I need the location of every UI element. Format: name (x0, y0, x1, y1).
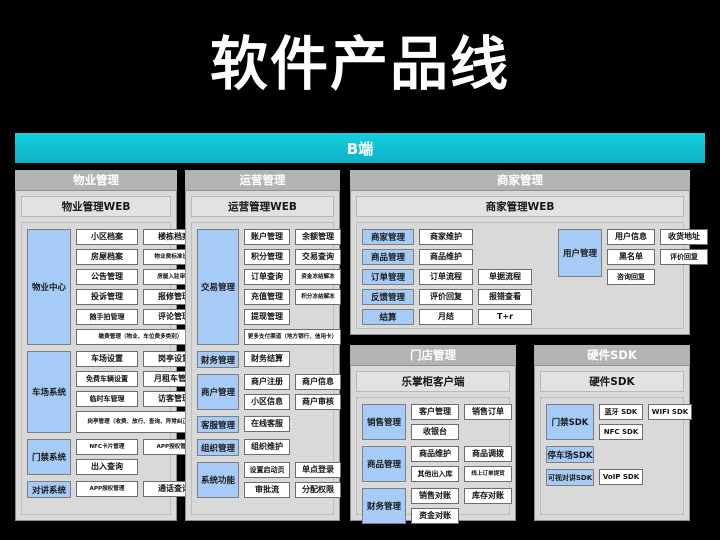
category-merchant-account[interactable]: 商户管理 (197, 374, 239, 410)
column-sdk: 硬件SDK 硬件SDK 门禁SDK 蓝牙 SDKWIFI SDK NFC SDK… (534, 345, 690, 521)
item-button[interactable]: 商户注册 (244, 374, 290, 390)
group-access-sdk: 门禁SDK 蓝牙 SDKWIFI SDK NFC SDK (546, 404, 678, 440)
category-parking-system[interactable]: 车场系统 (27, 351, 71, 433)
group-parking-system: 车场系统 车场设置岗亭设置 免费车辆设置月租车管理 临时车管理访客管理 岗亭管理… (27, 351, 165, 433)
item-button[interactable]: 临时车管理 (76, 391, 138, 407)
item-button[interactable]: 随手拍管理 (76, 309, 138, 325)
group-property-center: 物业中心 小区档案楼栋档案 房屋档案物业费标准设置 公告管理房屋入驻审核 投诉管… (27, 229, 165, 345)
group-store-finance: 财务管理 销售对账库存对账 资金对账 (362, 488, 504, 524)
panel-body-store: 销售管理 客户管理销售订单 收银台 商品管理 商品维护商品调拨 其他出入库线上订… (356, 397, 510, 515)
panel-operations: 运营管理WEB 交易管理 账户管理余额管理 积分管理交易查询 订单查询资金冻结解… (185, 190, 340, 521)
column-header-sdk: 硬件SDK (534, 345, 690, 365)
item-button[interactable]: 免费车辆设置 (76, 371, 138, 387)
item-button[interactable]: 订单查询 (244, 269, 290, 285)
category-intercom-system[interactable]: 对讲系统 (27, 481, 71, 498)
item-button[interactable]: 公告管理 (76, 269, 138, 285)
column-header-property: 物业管理 (15, 170, 177, 190)
category-settlement[interactable]: 结算 (362, 309, 414, 325)
item-button[interactable]: 财务结算 (244, 351, 290, 367)
category-sales[interactable]: 销售管理 (362, 404, 406, 440)
item-button[interactable]: 积分管理 (244, 249, 290, 265)
item-button[interactable]: 用户信息 (607, 229, 655, 245)
item-button[interactable]: 商家维护 (419, 229, 473, 245)
item-button[interactable]: 分配权限 (295, 482, 341, 498)
category-access-system[interactable]: 门禁系统 (27, 439, 71, 475)
item-button[interactable]: 黑名单 (607, 249, 655, 265)
item-button[interactable]: 组织维护 (244, 439, 290, 455)
item-button[interactable]: 投诉管理 (76, 289, 138, 305)
page-title: 软件产品线 (0, 28, 720, 100)
panel-store: 乐掌柜客户端 销售管理 客户管理销售订单 收银台 商品管理 商品维护商品调拨 其… (350, 365, 516, 521)
item-button[interactable]: 销售对账 (411, 488, 459, 504)
category-user-mgmt[interactable]: 用户管理 (558, 229, 602, 277)
item-button[interactable]: 审批流 (244, 482, 290, 498)
category-order-mgmt[interactable]: 订单管理 (362, 269, 414, 285)
item-button[interactable]: WIFI SDK (648, 404, 692, 420)
category-store-product[interactable]: 商品管理 (362, 446, 406, 482)
category-organization[interactable]: 组织管理 (197, 439, 239, 456)
column-property: 物业管理 物业管理WEB 物业中心 小区档案楼栋档案 房屋档案物业费标准设置 公… (15, 170, 177, 521)
item-button[interactable]: 销售订单 (464, 404, 512, 420)
group-customer-service: 客服管理 在线客服 (197, 416, 328, 433)
item-button[interactable]: 单据流程 (478, 269, 532, 285)
item-button[interactable]: 商品调拨 (464, 446, 512, 462)
group-intercom-sdk: 可视对讲SDK VoIP SDK (546, 469, 678, 486)
slide-root: 软件产品线 B端 物业管理 物业管理WEB 物业中心 小区档案楼栋档案 房屋档案… (0, 0, 720, 540)
banner-b-end: B端 (15, 133, 705, 163)
item-button[interactable]: 出入查询 (76, 459, 138, 475)
item-button[interactable]: 单点登录 (295, 462, 341, 478)
group-user-mgmt: 用户管理 用户信息收货地址 黑名单评价回复 咨询回复 (558, 229, 708, 322)
item-button[interactable]: 咨询回复 (607, 269, 655, 285)
panel-title-sdk: 硬件SDK (540, 371, 684, 392)
panel-body-merchant: 商家管理商家维护 商品管理商品维护 订单管理订单流程单据流程 反馈管理评价回复报… (356, 222, 684, 329)
item-button[interactable]: 提现管理 (244, 309, 290, 325)
item-button[interactable]: 商品维护 (411, 446, 459, 462)
item-button[interactable]: 交易查询 (295, 249, 341, 265)
column-operations: 运营管理 运营管理WEB 交易管理 账户管理余额管理 积分管理交易查询 订单查询… (185, 170, 340, 521)
group-parking-sdk: 停车场SDK (546, 446, 678, 463)
category-parking-sdk[interactable]: 停车场SDK (546, 446, 594, 463)
category-customer-service[interactable]: 客服管理 (197, 416, 239, 433)
merchant-left-block: 商家管理商家维护 商品管理商品维护 订单管理订单流程单据流程 反馈管理评价回复报… (362, 229, 532, 322)
group-system-function: 系统功能 设置启动页单点登录 审批流分配权限 (197, 462, 328, 498)
item-button[interactable]: 资金冻结解冻 (295, 269, 341, 285)
category-intercom-sdk[interactable]: 可视对讲SDK (546, 469, 594, 486)
column-header-operations: 运营管理 (185, 170, 340, 190)
panel-title-property-web: 物业管理WEB (21, 196, 171, 217)
category-feedback-mgmt[interactable]: 反馈管理 (362, 289, 414, 305)
category-system-function[interactable]: 系统功能 (197, 462, 239, 498)
column-header-merchant: 商家管理 (350, 170, 690, 190)
panel-title-store-client: 乐掌柜客户端 (356, 371, 510, 392)
item-button[interactable]: 小区信息 (244, 394, 290, 410)
item-button[interactable]: 房屋档案 (76, 249, 138, 265)
column-merchant: 商家管理 商家管理WEB 商家管理商家维护 商品管理商品维护 订单管理订单流程单… (350, 170, 690, 335)
item-button[interactable]: 账户管理 (244, 229, 290, 245)
item-button[interactable]: 充值管理 (244, 289, 290, 305)
item-button[interactable]: 在线客服 (244, 416, 290, 432)
category-merchant-mgmt[interactable]: 商家管理 (362, 229, 414, 245)
item-button[interactable]: 商户信息 (295, 374, 341, 390)
category-access-sdk[interactable]: 门禁SDK (546, 404, 594, 440)
item-button[interactable]: 收银台 (411, 424, 459, 440)
item-button[interactable]: APP授权管理 (76, 481, 138, 497)
panel-body-sdk: 门禁SDK 蓝牙 SDKWIFI SDK NFC SDK 停车场SDK 可视对讲… (540, 397, 684, 515)
item-button[interactable]: 小区档案 (76, 229, 138, 245)
group-store-product: 商品管理 商品维护商品调拨 其他出入库线上订单提货 (362, 446, 504, 482)
panel-property: 物业管理WEB 物业中心 小区档案楼栋档案 房屋档案物业费标准设置 公告管理房屋… (15, 190, 177, 521)
item-button[interactable]: 设置启动页 (244, 462, 290, 478)
group-merchant-account: 商户管理 商户注册商户信息 小区信息商户审核 (197, 374, 328, 410)
item-button[interactable]: 客户管理 (411, 404, 459, 420)
item-button[interactable]: 资金对账 (411, 508, 459, 524)
group-access-system: 门禁系统 NFC卡片管理APP授权管理 出入查询 (27, 439, 165, 475)
panel-title-merchant-web: 商家管理WEB (356, 196, 684, 217)
item-button[interactable]: 更多支付渠道（地方银行、信用卡） (244, 329, 341, 345)
group-intercom-system: 对讲系统 APP授权管理通话查询 (27, 481, 165, 498)
category-finance[interactable]: 财务管理 (197, 351, 239, 368)
item-button[interactable]: 库存对账 (464, 488, 512, 504)
item-button[interactable]: NFC SDK (599, 424, 643, 440)
item-button[interactable]: 余额管理 (295, 229, 341, 245)
banner-label: B端 (347, 138, 373, 159)
item-button[interactable]: 订单流程 (419, 269, 473, 285)
item-button[interactable]: NFC卡片管理 (76, 439, 138, 455)
item-button[interactable]: 线上订单提货 (464, 466, 512, 482)
item-button[interactable]: 积分冻结解冻 (295, 289, 341, 305)
column-header-store: 门店管理 (350, 345, 516, 365)
group-finance: 财务管理 财务结算 (197, 351, 328, 368)
category-property-center[interactable]: 物业中心 (27, 229, 71, 345)
item-button[interactable]: 评价回复 (419, 289, 473, 305)
panel-body-operations: 交易管理 账户管理余额管理 积分管理交易查询 订单查询资金冻结解冻 充值管理积分… (191, 222, 334, 515)
category-transaction[interactable]: 交易管理 (197, 229, 239, 345)
item-button[interactable]: 商品维护 (419, 249, 473, 265)
item-button[interactable]: 商户审核 (295, 394, 341, 410)
group-organization: 组织管理 组织维护 (197, 439, 328, 456)
item-button[interactable]: 其他出入库 (411, 466, 459, 482)
item-button[interactable]: 评价回复 (660, 249, 708, 265)
panel-body-property: 物业中心 小区档案楼栋档案 房屋档案物业费标准设置 公告管理房屋入驻审核 投诉管… (21, 222, 171, 515)
item-button[interactable]: 月结 (419, 309, 473, 325)
item-button[interactable]: 蓝牙 SDK (599, 404, 643, 420)
item-button[interactable]: T+r (478, 309, 532, 325)
category-store-finance[interactable]: 财务管理 (362, 488, 406, 524)
panel-merchant: 商家管理WEB 商家管理商家维护 商品管理商品维护 订单管理订单流程单据流程 反… (350, 190, 690, 335)
group-sales: 销售管理 客户管理销售订单 收银台 (362, 404, 504, 440)
item-button[interactable]: 报错查看 (478, 289, 532, 305)
item-button[interactable]: VoIP SDK (599, 469, 643, 485)
category-product-mgmt[interactable]: 商品管理 (362, 249, 414, 265)
panel-title-operations-web: 运营管理WEB (191, 196, 334, 217)
item-button[interactable]: 车场设置 (76, 351, 138, 367)
panel-sdk: 硬件SDK 门禁SDK 蓝牙 SDKWIFI SDK NFC SDK 停车场SD… (534, 365, 690, 521)
item-button[interactable]: 收货地址 (660, 229, 708, 245)
group-transaction: 交易管理 账户管理余额管理 积分管理交易查询 订单查询资金冻结解冻 充值管理积分… (197, 229, 328, 345)
column-store: 门店管理 乐掌柜客户端 销售管理 客户管理销售订单 收银台 商品管理 商品维护商… (350, 345, 516, 521)
